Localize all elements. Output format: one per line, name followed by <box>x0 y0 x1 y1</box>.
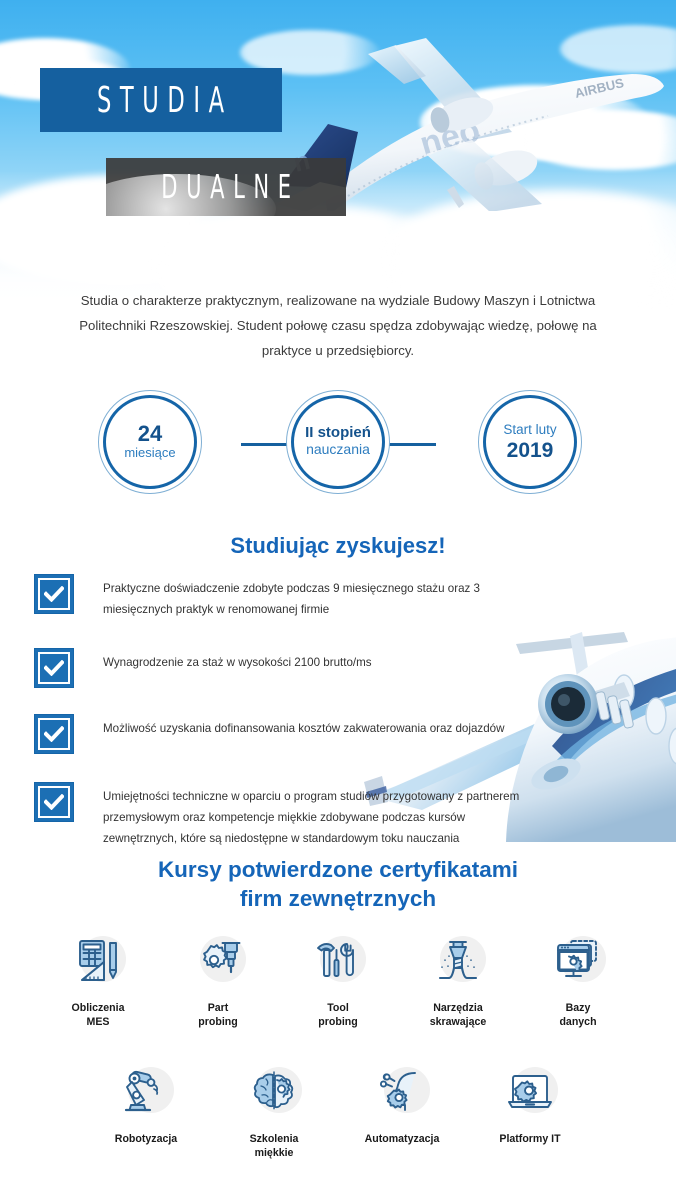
checklist-item: Umiejętności techniczne w oparciu o prog… <box>34 786 634 849</box>
courses-row-2: Robotyzacja S <box>0 1061 676 1160</box>
gear-probe-icon <box>186 930 250 992</box>
title-banner-primary: STUDIA <box>40 68 282 132</box>
certified-courses-grid: Obliczenia MES Part probing <box>0 930 676 1160</box>
robot-arm-icon <box>114 1061 178 1123</box>
course-item-robotyzacja[interactable]: Robotyzacja <box>82 1061 210 1160</box>
course-label: Platformy IT <box>499 1132 560 1146</box>
title-line-2: DUALNE <box>153 168 300 206</box>
course-label: Part probing <box>198 1001 237 1029</box>
calculator-ruler-pencil-icon <box>66 930 130 992</box>
checklist-text: Praktyczne doświadczenie zdobyte podczas… <box>103 578 533 620</box>
checklist-text: Umiejętności techniczne w oparciu o prog… <box>103 786 533 849</box>
benefits-heading: Studiując zyskujesz! <box>0 533 676 559</box>
infographic-page: AIRBUS n neo STUDIA DUALNE Studia o char… <box>0 0 676 1200</box>
head-gear-circuit-icon <box>370 1061 434 1123</box>
checkbox-checked <box>34 574 74 614</box>
fact-label: nauczania <box>306 441 370 459</box>
laptop-gear-icon <box>498 1061 562 1123</box>
fact-circle-degree: II stopień nauczania <box>286 390 390 494</box>
course-item-obliczenia-mes[interactable]: Obliczenia MES <box>38 930 158 1029</box>
key-facts-row: 24 miesiące II stopień nauczania Start l… <box>0 388 676 500</box>
benefits-checklist: Praktyczne doświadczenie zdobyte podczas… <box>34 578 634 873</box>
courses-heading: Kursy potwierdzone certyfikatami firm ze… <box>0 855 676 913</box>
checklist-item: Wynagrodzenie za staż w wysokości 2100 b… <box>34 652 634 688</box>
intro-paragraph: Studia o charakterze praktycznym, realiz… <box>60 288 616 363</box>
fact-label: miesiące <box>124 445 175 461</box>
checkbox-checked <box>34 782 74 822</box>
fact-value: 24 <box>138 422 162 445</box>
fact-value: 2019 <box>507 440 554 462</box>
course-label: Obliczenia MES <box>72 1001 125 1029</box>
checklist-text: Wynagrodzenie za staż w wysokości 2100 b… <box>103 652 372 673</box>
courses-heading-line-1: Kursy potwierdzone certyfikatami <box>158 857 518 882</box>
fact-circle-start: Start luty 2019 <box>478 390 582 494</box>
monitor-gear-database-icon <box>546 930 610 992</box>
brain-gear-icon <box>242 1061 306 1123</box>
checkmark-icon <box>38 786 70 818</box>
course-label: Narzędzia skrawające <box>430 1001 487 1029</box>
checkmark-icon <box>38 652 70 684</box>
checkmark-icon <box>38 718 70 750</box>
course-label: Szkolenia miękkie <box>250 1132 299 1160</box>
title-line-1: STUDIA <box>89 79 233 120</box>
course-item-narzedzia-skrawajace[interactable]: Narzędzia skrawające <box>398 930 518 1029</box>
course-label: Tool probing <box>318 1001 357 1029</box>
courses-row-1: Obliczenia MES Part probing <box>0 930 676 1029</box>
checkmark-icon <box>38 578 70 610</box>
course-item-tool-probing[interactable]: Tool probing <box>278 930 398 1029</box>
course-item-automatyzacja[interactable]: Automatyzacja <box>338 1061 466 1160</box>
checklist-text: Możliwość uzyskania dofinansowania koszt… <box>103 718 504 739</box>
course-label: Robotyzacja <box>115 1132 177 1146</box>
checklist-item: Praktyczne doświadczenie zdobyte podczas… <box>34 578 634 620</box>
milling-cutter-icon <box>426 930 490 992</box>
course-item-platformy-it[interactable]: Platformy IT <box>466 1061 594 1160</box>
checklist-item: Możliwość uzyskania dofinansowania koszt… <box>34 718 634 754</box>
fact-label: Start luty <box>503 422 556 439</box>
fact-value: II stopień <box>305 425 371 441</box>
title-banner-secondary: DUALNE <box>106 158 346 216</box>
course-item-part-probing[interactable]: Part probing <box>158 930 278 1029</box>
checkbox-checked <box>34 714 74 754</box>
course-label: Bazy danych <box>559 1001 596 1029</box>
course-item-szkolenia-miekkie[interactable]: Szkolenia miękkie <box>210 1061 338 1160</box>
fact-circle-duration: 24 miesiące <box>98 390 202 494</box>
courses-heading-line-2: firm zewnętrznych <box>240 886 436 911</box>
checkbox-checked <box>34 648 74 688</box>
hammer-screwdriver-wrench-icon <box>306 930 370 992</box>
course-item-bazy-danych[interactable]: Bazy danych <box>518 930 638 1029</box>
course-label: Automatyzacja <box>365 1132 440 1146</box>
